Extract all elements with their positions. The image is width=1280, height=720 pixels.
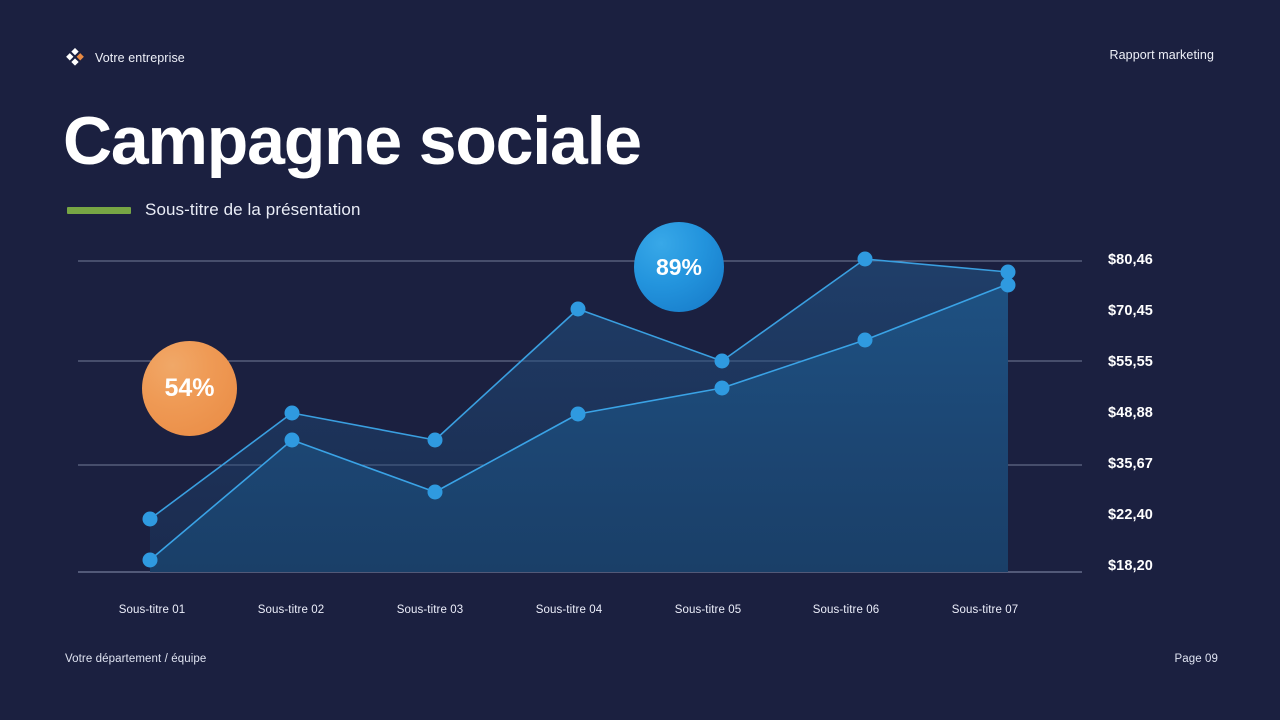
y-tick-1: $70,45: [1108, 303, 1153, 319]
y-tick-4: $35,67: [1108, 456, 1153, 472]
footer-page-number: Page 09: [1174, 653, 1218, 665]
x-tick-6: Sous-titre 07: [952, 604, 1019, 616]
x-tick-3: Sous-titre 04: [536, 604, 603, 616]
x-tick-0: Sous-titre 01: [119, 604, 186, 616]
x-tick-4: Sous-titre 05: [675, 604, 742, 616]
x-tick-2: Sous-titre 03: [397, 604, 464, 616]
y-tick-2: $55,55: [1108, 354, 1153, 370]
line-area-chart: $80,46 $70,45 $55,55 $48,88 $35,67 $22,4…: [0, 0, 1280, 720]
x-tick-1: Sous-titre 02: [258, 604, 325, 616]
y-tick-6: $18,20: [1108, 558, 1153, 574]
x-tick-5: Sous-titre 06: [813, 604, 880, 616]
orange-percentage-bubble: 54%: [142, 341, 237, 436]
footer-department: Votre département / équipe: [65, 653, 206, 665]
y-tick-0: $80,46: [1108, 252, 1153, 268]
y-tick-3: $48,88: [1108, 405, 1153, 421]
y-tick-5: $22,40: [1108, 507, 1153, 523]
presentation-slide: Votre entreprise Rapport marketing Campa…: [0, 0, 1280, 720]
blue-percentage-bubble: 89%: [634, 222, 724, 312]
